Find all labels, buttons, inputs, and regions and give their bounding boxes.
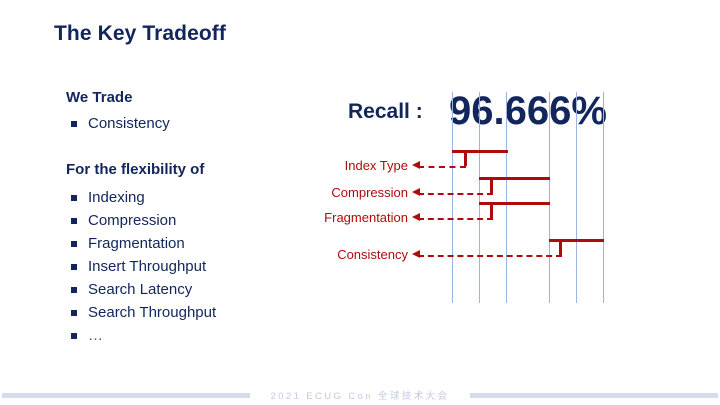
list-item: Consistency <box>66 112 170 135</box>
digit-gridline <box>506 92 507 303</box>
callout-span-index-type <box>452 150 508 153</box>
list-item: Fragmentation <box>66 232 216 255</box>
callout-span-consistency <box>549 239 604 242</box>
list-item: Compression <box>66 209 216 232</box>
callout-label-compression: Compression <box>250 185 408 200</box>
callout-label-index-type: Index Type <box>250 158 408 173</box>
callout-stub-index-type <box>464 150 467 166</box>
digit-gridline <box>576 92 577 303</box>
arrow-icon <box>412 188 420 196</box>
digit-gridline <box>603 92 604 303</box>
callout-leader-index-type <box>418 166 466 168</box>
callout-label-fragmentation: Fragmentation <box>250 210 408 225</box>
callout-span-compression <box>479 177 550 180</box>
we-trade-heading: We Trade <box>66 88 132 108</box>
page-title: The Key Tradeoff <box>54 22 226 46</box>
digit-gridline <box>452 92 453 303</box>
callout-span-fragmentation <box>479 202 550 205</box>
digit-gridline <box>479 92 480 303</box>
callout-stub-compression <box>490 177 493 193</box>
footer-text: 2021 ECUG Con 全球技术大会 <box>0 388 720 402</box>
recall-label: Recall : <box>348 100 423 124</box>
arrow-icon <box>412 161 420 169</box>
digit-gridline <box>549 92 550 303</box>
arrow-icon <box>412 250 420 258</box>
list-item: Search Throughput <box>66 301 216 324</box>
we-trade-list: Consistency <box>66 112 170 135</box>
callout-leader-consistency <box>418 255 562 257</box>
list-item: … <box>66 324 216 347</box>
callout-leader-compression <box>418 193 493 195</box>
callout-stub-fragmentation <box>490 202 493 218</box>
callout-stub-consistency <box>559 239 562 255</box>
flexibility-list: Indexing Compression Fragmentation Inser… <box>66 186 216 347</box>
list-item: Search Latency <box>66 278 216 301</box>
list-item: Insert Throughput <box>66 255 216 278</box>
recall-value: 96.666% <box>449 88 607 134</box>
list-item: Indexing <box>66 186 216 209</box>
callout-leader-fragmentation <box>418 218 493 220</box>
callout-label-consistency: Consistency <box>250 247 408 262</box>
slide-canvas: The Key Tradeoff We Trade Consistency Fo… <box>0 0 720 405</box>
arrow-icon <box>412 213 420 221</box>
flexibility-heading: For the flexibility of <box>66 160 204 180</box>
